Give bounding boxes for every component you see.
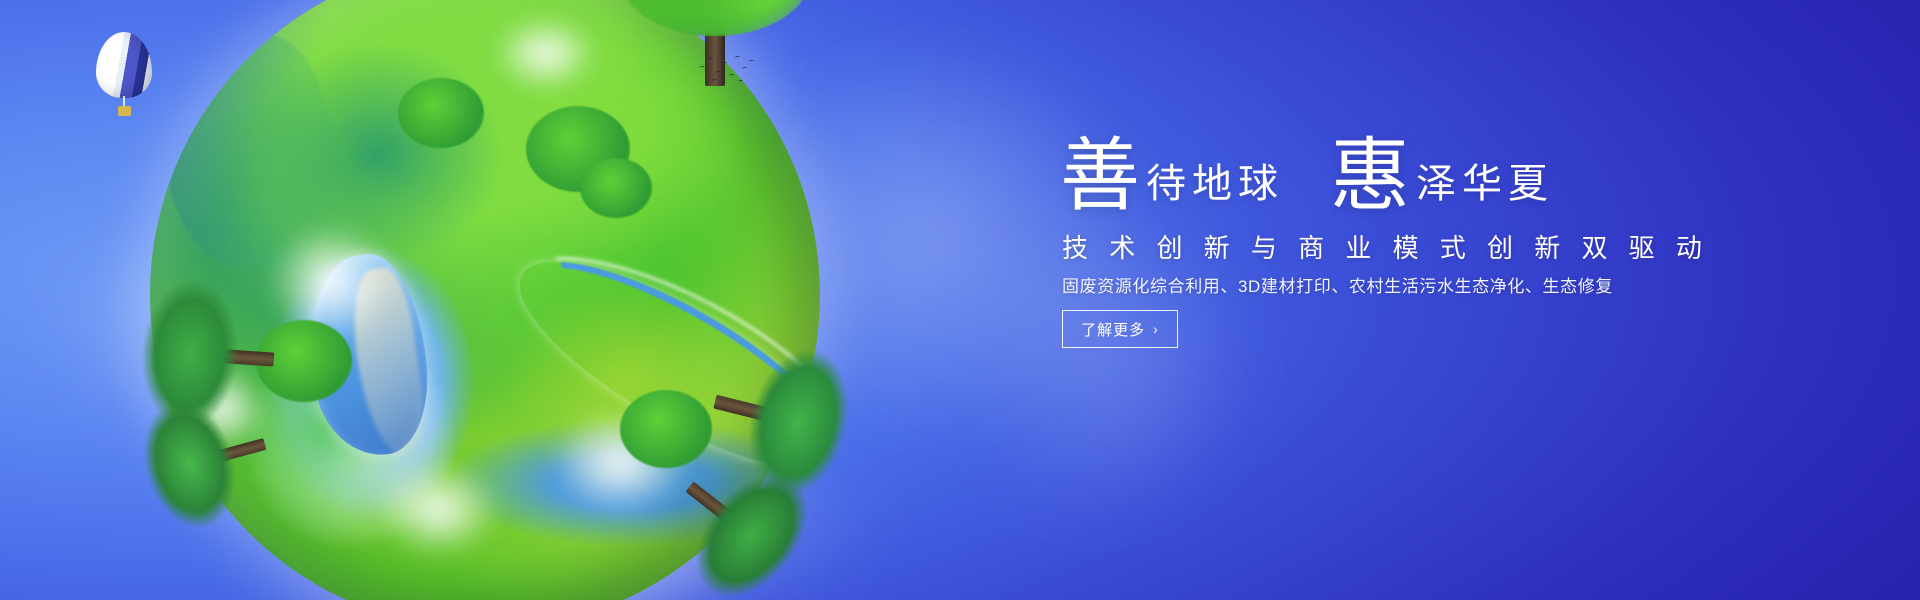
balloon-envelope [96, 32, 152, 98]
hero-subtitle: 技 术 创 新 与 商 业 模 式 创 新 双 驱 动 [1062, 228, 1709, 265]
shrub [580, 158, 652, 218]
shrub [620, 390, 712, 468]
shrub [398, 78, 484, 148]
chevron-right-icon: › [1153, 322, 1159, 336]
globe-cloud [472, 0, 619, 107]
bird-icon [742, 67, 747, 71]
headline-char-1: 善 [1060, 129, 1140, 222]
hero-description: 固废资源化综合利用、3D建材打印、农村生活污水生态净化、生态修复 [1062, 272, 1613, 297]
bird-flock-icon [700, 52, 756, 86]
tree-crown [620, 0, 810, 36]
hero-banner: 善待地球惠泽华夏 技 术 创 新 与 商 业 模 式 创 新 双 驱 动 固废资… [0, 0, 1920, 600]
globe-cloud [351, 442, 525, 576]
bird-icon [722, 62, 727, 66]
headline-char-2: 惠 [1330, 129, 1410, 222]
balloon-basket [118, 106, 131, 116]
bird-icon [708, 58, 713, 62]
bird-icon [749, 60, 754, 64]
bird-icon [715, 71, 720, 75]
bird-icon [729, 74, 734, 78]
bird-icon [712, 79, 717, 83]
hero-content: 善待地球惠泽华夏 技 术 创 新 与 商 业 模 式 创 新 双 驱 动 固废资… [1060, 0, 1760, 600]
tree-crown [130, 390, 249, 538]
headline-rest-2: 泽华夏 [1416, 161, 1554, 207]
learn-more-label: 了解更多 [1081, 319, 1145, 340]
learn-more-button[interactable]: 了解更多 › [1062, 310, 1178, 348]
page-title: 善待地球惠泽华夏 [1060, 136, 1554, 216]
hot-air-balloon-icon [96, 32, 152, 118]
bird-icon [700, 66, 705, 70]
tiny-planet-globe [150, 0, 820, 600]
headline-rest-1: 待地球 [1146, 161, 1284, 207]
bird-icon [735, 56, 740, 60]
bird-icon [738, 80, 743, 84]
